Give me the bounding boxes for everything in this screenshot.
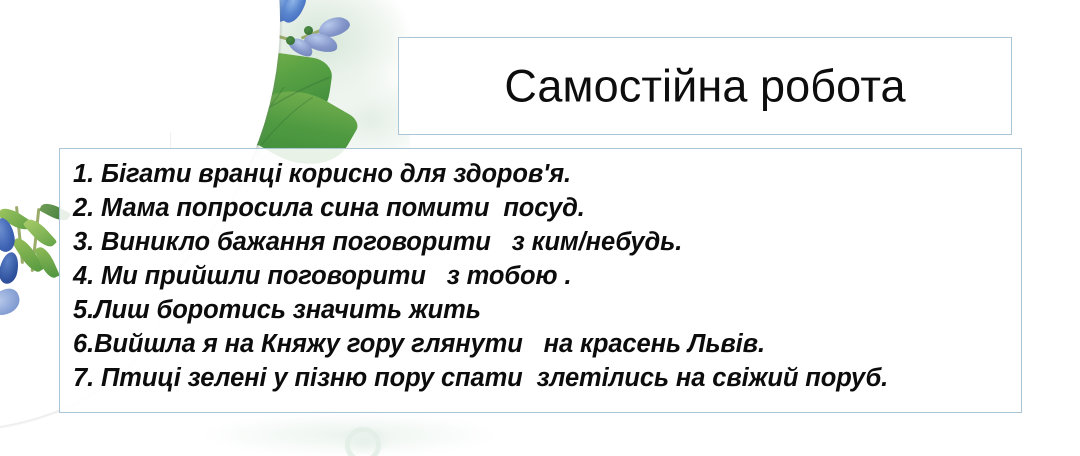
- flower-petal-icon: [0, 286, 23, 319]
- flower-petal-icon: [269, 0, 298, 24]
- flower-bud-icon: [286, 34, 316, 59]
- title-textbox: Самостійна робота: [398, 37, 1012, 135]
- stem-decor: [31, 208, 41, 272]
- stem-node-decor: [262, 30, 271, 39]
- flower-petal-icon: [192, 91, 241, 135]
- list-item: 7. Птиці зелені у пізню пору спати злеті…: [73, 361, 1015, 395]
- flower-petal-icon: [247, 0, 283, 32]
- leaf-icon: [0, 204, 33, 235]
- content-textbox: 1. Бігати вранці корисно для здоров'я. 2…: [59, 148, 1022, 413]
- leaf-icon: [34, 244, 60, 280]
- leaf-icon: [202, 44, 334, 156]
- numbered-sentence-list: 1. Бігати вранці корисно для здоров'я. 2…: [73, 157, 1015, 395]
- flower-petal-icon: [278, 0, 309, 26]
- list-item: 1. Бігати вранці корисно для здоров'я.: [73, 157, 1015, 191]
- flower-center-icon: [199, 121, 209, 131]
- flower-petal-icon: [167, 105, 218, 146]
- list-item: 2. Мама попросила сина помити посуд.: [73, 191, 1015, 225]
- list-item: 5.Лиш боротись значить жить: [73, 293, 1015, 327]
- stem-node-decor: [304, 26, 313, 35]
- leaf-icon: [11, 234, 44, 275]
- slide-canvas: Самостійна робота 1. Бігати вранці корис…: [0, 0, 1080, 456]
- flower-bud-icon: [0, 217, 17, 254]
- leaf-vein-decor: [209, 54, 340, 160]
- flower-bud-icon: [302, 30, 339, 55]
- page-title: Самостійна робота: [399, 62, 1011, 109]
- stem-decor: [15, 206, 24, 264]
- flower-bud-icon: [226, 22, 257, 57]
- stem-node-decor: [242, 28, 251, 37]
- leaf-icon: [23, 215, 57, 251]
- stem-decor: [244, 25, 320, 49]
- list-item: 4. Ми прийшли поговорити з тобою .: [73, 259, 1015, 293]
- stem-node-decor: [286, 36, 295, 45]
- stem-decor: [301, 23, 336, 39]
- flower-bud-icon: [316, 13, 352, 40]
- list-item: 3. Виникло бажання поговорити з ким/небу…: [73, 225, 1015, 259]
- list-item: 6.Вийшла я на Княжу гору глянути на крас…: [73, 327, 1015, 361]
- flower-bud-icon: [0, 250, 21, 285]
